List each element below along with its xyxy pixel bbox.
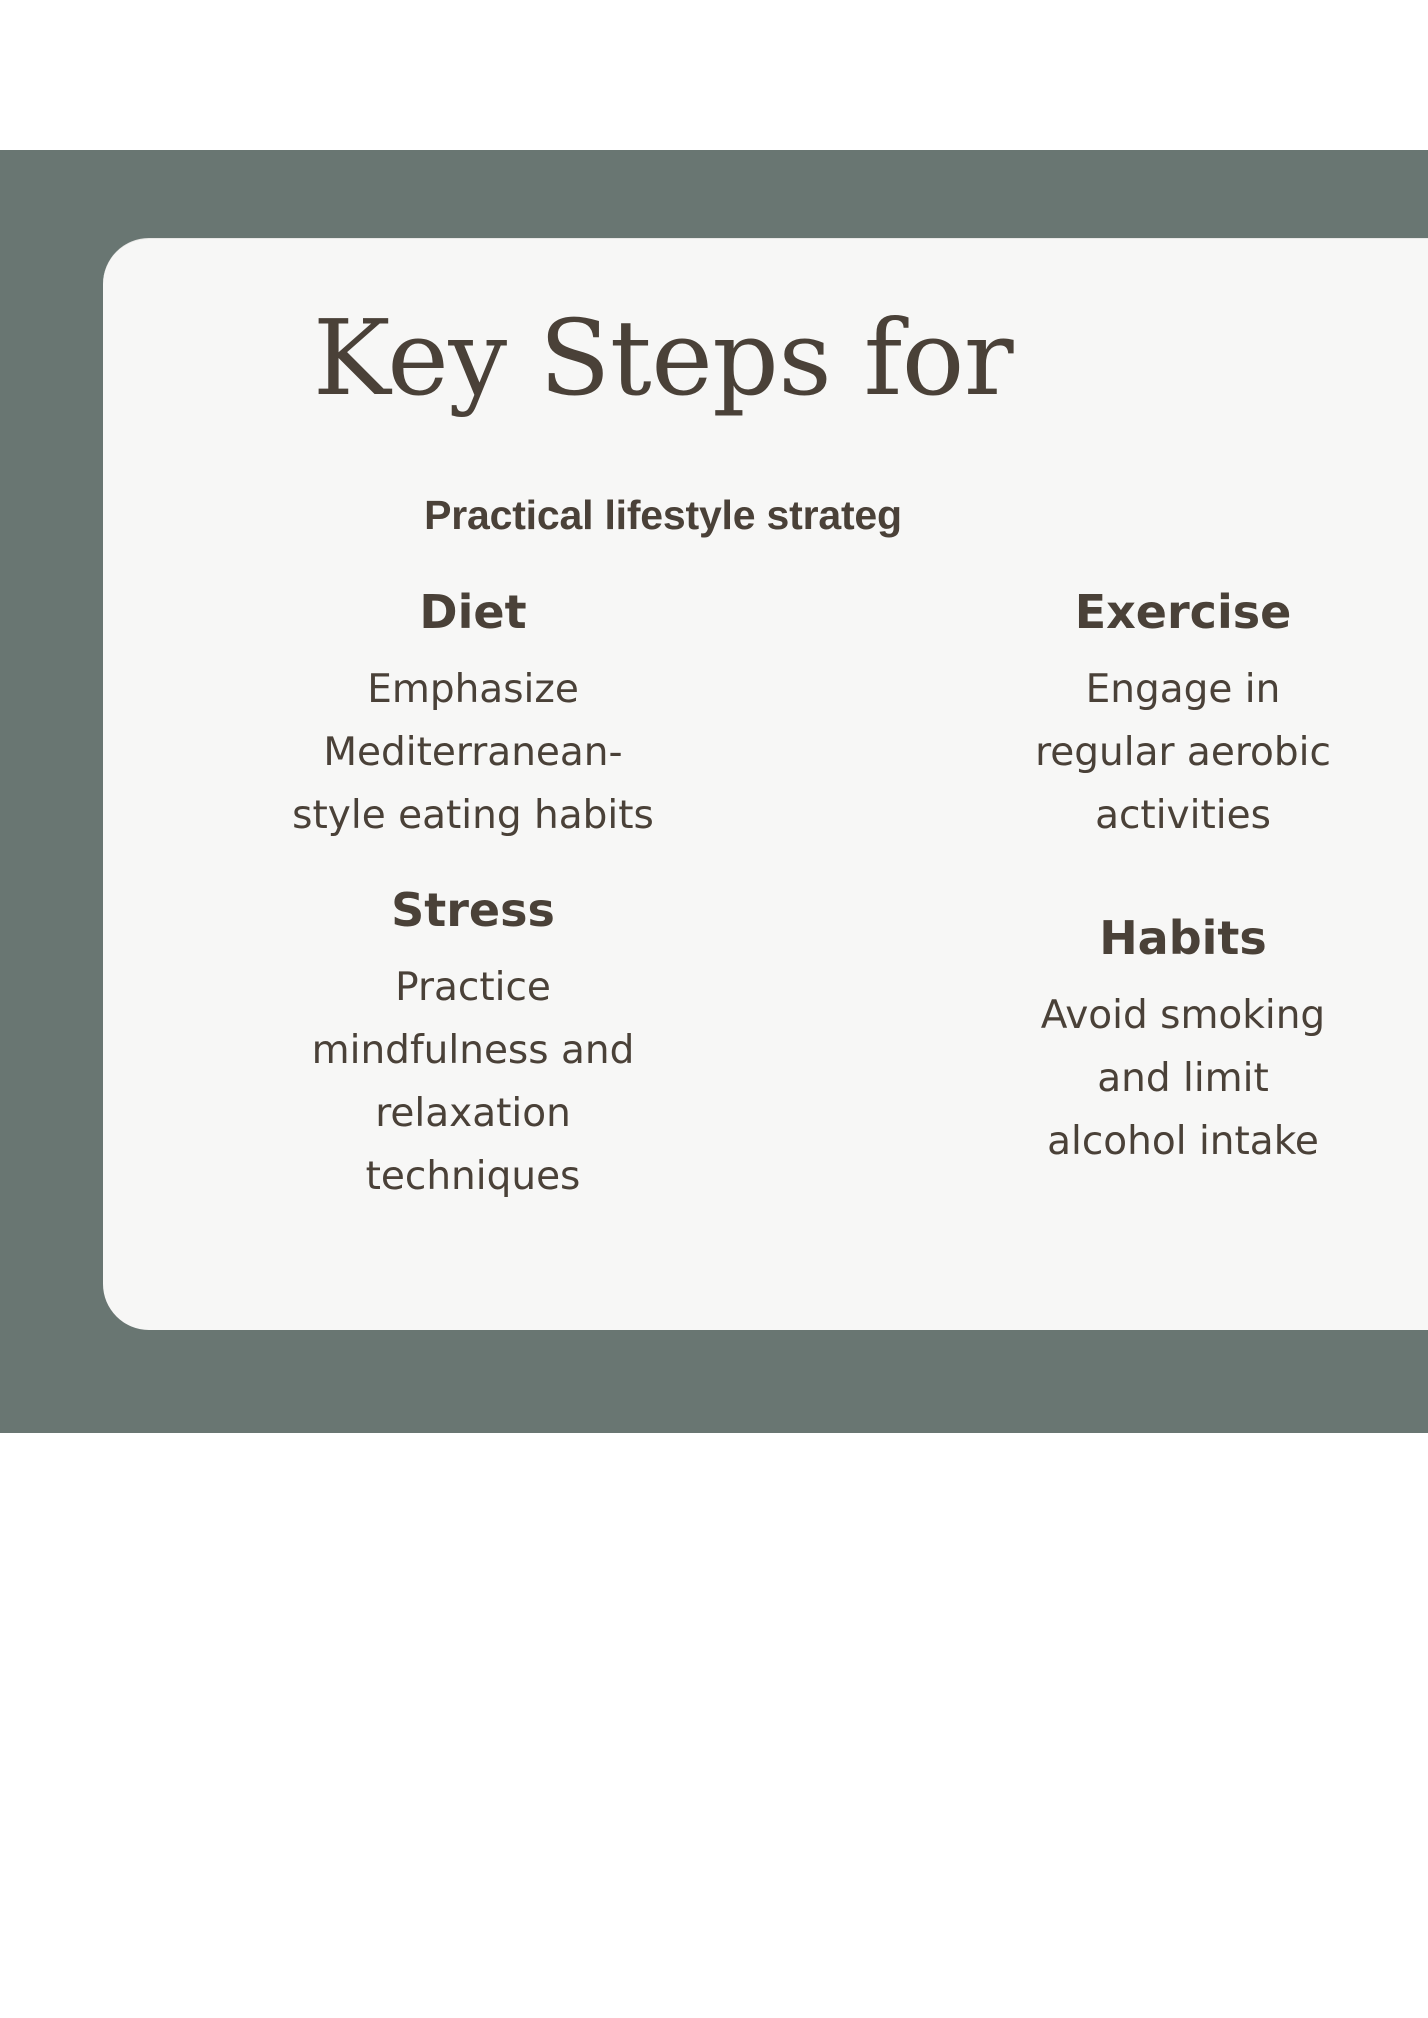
topic-card-diet: Diet Emphasize Mediterranean-style eatin… [103, 587, 843, 847]
topic-heading-habits: Habits [891, 913, 1428, 964]
topic-heading-stress: Stress [151, 885, 795, 936]
topic-heading-diet: Diet [151, 587, 795, 638]
page-title: Key Steps for [103, 297, 1223, 420]
topic-body-habits: Avoid smoking and limit alcohol intake [1033, 984, 1333, 1174]
topic-body-diet: Emphasize Mediterranean-style eating hab… [278, 658, 668, 848]
topic-body-exercise: Engage in regular aerobic activities [1023, 658, 1343, 848]
topic-grid: Diet Emphasize Mediterranean-style eatin… [103, 587, 1428, 1208]
slide-page: Key Steps for Practical lifestyle strate… [0, 0, 1428, 2018]
topic-card-exercise: Exercise Engage in regular aerobic activ… [843, 587, 1428, 847]
topic-body-stress: Practice mindfulness and relaxation tech… [303, 956, 643, 1209]
topic-card-stress: Stress Practice mindfulness and relaxati… [103, 867, 843, 1208]
topic-heading-exercise: Exercise [891, 587, 1428, 638]
content-card: Key Steps for Practical lifestyle strate… [103, 238, 1428, 1330]
topic-card-habits: Habits Avoid smoking and limit alcohol i… [843, 867, 1428, 1208]
page-subtitle: Practical lifestyle strateg [103, 491, 1223, 540]
